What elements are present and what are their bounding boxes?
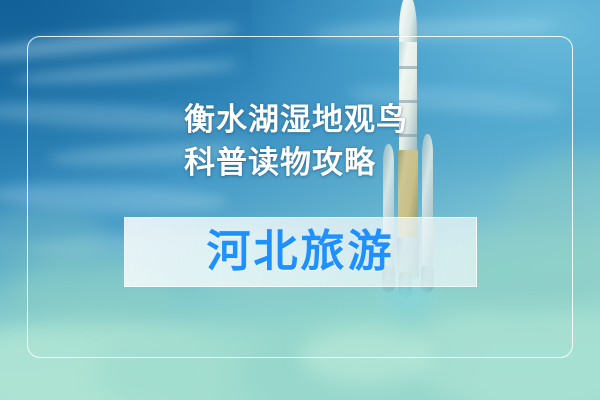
category-banner: 河北旅游 — [124, 217, 477, 287]
headline-line-2: 科普读物攻略 — [184, 142, 504, 185]
travel-promo-poster: 衡水湖湿地观鸟 科普读物攻略 河北旅游 — [0, 0, 600, 400]
poster-headline: 衡水湖湿地观鸟 科普读物攻略 — [184, 99, 504, 185]
category-banner-label: 河北旅游 — [207, 230, 395, 274]
headline-line-1: 衡水湖湿地观鸟 — [184, 99, 504, 142]
rocket-band — [399, 66, 417, 69]
rocket-nose-cone — [399, 0, 417, 46]
